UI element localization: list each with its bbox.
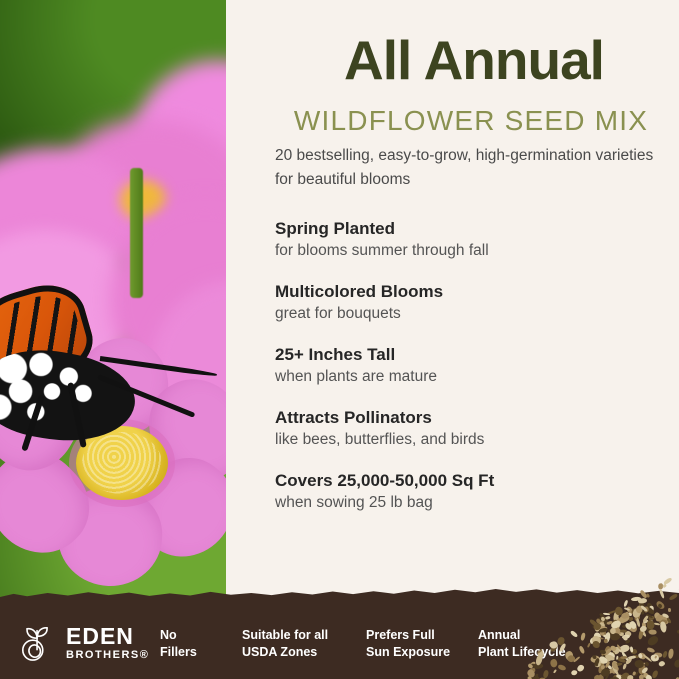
- product-infographic: All Annual WILDFLOWER SEED MIX 20 bestse…: [0, 0, 679, 679]
- feature-subtext: when plants are mature: [275, 367, 675, 388]
- brand-logo: EDEN BROTHERS®: [19, 624, 149, 662]
- product-lede: 20 bestselling, easy-to-grow, high-germi…: [275, 144, 675, 191]
- feature-subtext: like bees, butterflies, and birds: [275, 430, 675, 451]
- seedling-sprout-icon: [19, 624, 57, 662]
- feature-item: 25+ Inches Tall when plants are mature: [275, 344, 675, 388]
- feature-subtext: for blooms summer through fall: [275, 241, 675, 262]
- product-title: All Annual: [274, 32, 674, 88]
- feature-heading: 25+ Inches Tall: [275, 344, 675, 366]
- feature-subtext: great for bouquets: [275, 304, 675, 325]
- footer-attribute-sun-exposure: Prefers Full Sun Exposure: [366, 627, 454, 661]
- footer-attribute-usda-zones: Suitable for all USDA Zones: [242, 627, 342, 661]
- feature-list: Spring Planted for blooms summer through…: [275, 218, 675, 533]
- feature-heading: Attracts Pollinators: [275, 407, 675, 429]
- feature-item: Attracts Pollinators like bees, butterfl…: [275, 407, 675, 451]
- feature-heading: Multicolored Blooms: [275, 281, 675, 303]
- brand-name-eden: EDEN: [66, 625, 149, 648]
- footer-attribute-list: No Fillers Suitable for all USDA Zones P…: [160, 627, 588, 661]
- feature-heading: Covers 25,000-50,000 Sq Ft: [275, 470, 675, 492]
- feature-item: Multicolored Blooms great for bouquets: [275, 281, 675, 325]
- brand-wordmark: EDEN BROTHERS®: [66, 625, 149, 661]
- product-subtitle: WILDFLOWER SEED MIX: [266, 106, 676, 137]
- product-photo: [0, 0, 226, 620]
- feature-subtext: when sowing 25 lb bag: [275, 493, 675, 514]
- monarch-butterfly: [0, 290, 160, 465]
- feature-item: Covers 25,000-50,000 Sq Ft when sowing 2…: [275, 470, 675, 514]
- flower-stem: [130, 168, 143, 298]
- footer-attribute-no-fillers: No Fillers: [160, 627, 218, 661]
- feature-heading: Spring Planted: [275, 218, 675, 240]
- brand-name-brothers: BROTHERS®: [66, 650, 149, 661]
- seed-pile-image: [527, 561, 679, 679]
- feature-item: Spring Planted for blooms summer through…: [275, 218, 675, 262]
